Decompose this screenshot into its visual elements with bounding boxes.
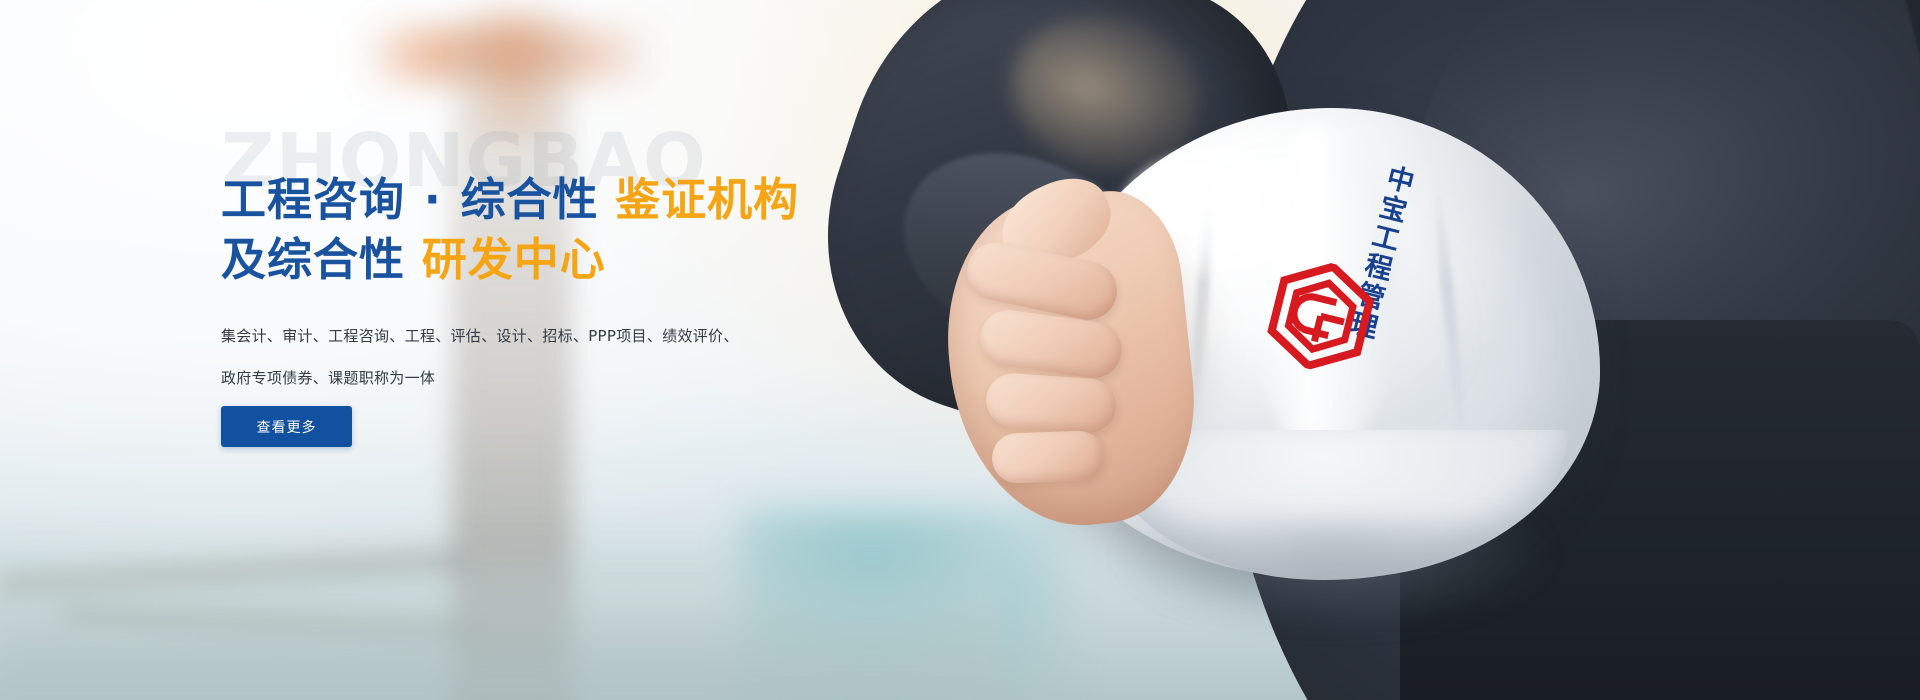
finger-ring — [984, 372, 1117, 435]
hero-description-line-1: 集会计、审计、工程咨询、工程、评估、设计、招标、PPP项目、绩效评价、 — [221, 315, 821, 357]
view-more-button[interactable]: 查看更多 — [221, 406, 352, 447]
hero-description-line-2: 政府专项债券、课题职称为一体 — [221, 357, 821, 399]
hard-hat-shadow — [1120, 520, 1550, 630]
finger-little — [991, 430, 1105, 484]
headline-separator-dot: · — [422, 173, 444, 226]
hero-description: 集会计、审计、工程咨询、工程、评估、设计、招标、PPP项目、绩效评价、 政府专项… — [221, 315, 821, 399]
headline-line1-accent: 鉴证机构 — [615, 173, 799, 226]
headline-line-1: 工程咨询 · 综合性 鉴证机构 — [221, 170, 799, 230]
headline-line-2: 及综合性 研发中心 — [221, 230, 799, 290]
hexagon-emblem-icon — [1259, 252, 1382, 381]
page-title: 工程咨询 · 综合性 鉴证机构 及综合性 研发中心 — [221, 170, 799, 290]
hero-banner: 中宝工程管理 ZHONGBAO 工程咨询 · 综合性 鉴证机构 及综合性 研发中 — [0, 0, 1920, 700]
hero-content: ZHONGBAO 工程咨询 · 综合性 鉴证机构 及综合性 研发中心 集会计、审… — [221, 0, 1001, 700]
headline-line1-part1: 工程咨询 — [221, 173, 405, 226]
headline-line2-part1: 及综合性 — [221, 233, 405, 286]
headline-line1-part2: 综合性 — [460, 173, 598, 226]
headline-line2-accent: 研发中心 — [422, 233, 606, 286]
